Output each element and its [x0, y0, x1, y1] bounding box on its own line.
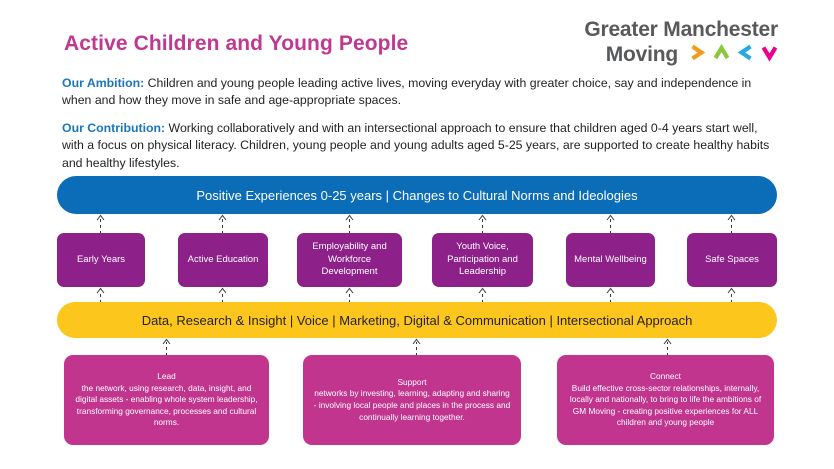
pillar-label: Youth Voice, Participation and Leadershi…	[438, 241, 527, 279]
logo-line-1: Greater Manchester	[584, 19, 778, 40]
arrow-action-2-to-enabler	[663, 338, 672, 356]
outcome-banner-label: Positive Experiences 0-25 years | Change…	[196, 188, 637, 203]
contribution-text: Working collaboratively and with an inte…	[62, 121, 769, 170]
arrow-enabler-to-pillar-0	[96, 287, 105, 303]
arrow-pillar-3-to-outcome	[478, 214, 487, 234]
enabler-banner: Data, Research & Insight | Voice | Marke…	[57, 302, 777, 338]
action-support[interactable]: Support networks by investing, learning,…	[303, 355, 521, 445]
pillar-safe-spaces[interactable]: Safe Spaces	[687, 233, 777, 287]
contribution-label: Our Contribution:	[62, 121, 165, 135]
chevron-down-icon	[761, 43, 778, 66]
pillar-label: Mental Wellbeing	[574, 254, 647, 267]
ambition-statement: Our Ambition: Children and young people …	[62, 75, 778, 110]
arrow-enabler-to-pillar-1	[218, 287, 227, 303]
greater-manchester-moving-logo: Greater Manchester Moving	[584, 19, 778, 66]
logo-chevron-group	[689, 43, 778, 66]
action-connect[interactable]: Connect Build effective cross-sector rel…	[557, 355, 774, 445]
pillar-active-education[interactable]: Active Education	[178, 233, 268, 287]
arrow-pillar-2-to-outcome	[345, 214, 354, 234]
chevron-right-icon	[689, 43, 706, 66]
arrow-action-1-to-enabler	[412, 338, 421, 356]
arrow-enabler-to-pillar-4	[606, 287, 615, 303]
pillar-youth-voice-participation-leadership[interactable]: Youth Voice, Participation and Leadershi…	[432, 233, 533, 287]
page-title: Active Children and Young People	[64, 32, 408, 56]
contribution-statement: Our Contribution: Working collaborativel…	[62, 120, 778, 172]
chevron-left-icon	[737, 43, 754, 66]
action-body: the network, using research, data, insig…	[74, 383, 259, 429]
arrow-pillar-1-to-outcome	[218, 214, 227, 234]
pillar-early-years[interactable]: Early Years	[57, 233, 145, 287]
arrow-enabler-to-pillar-3	[478, 287, 487, 303]
arrow-enabler-to-pillar-2	[345, 287, 354, 303]
pillar-label: Employability and Workforce Development	[303, 241, 396, 279]
arrow-enabler-to-pillar-5	[727, 287, 736, 303]
ambition-text: Children and young people leading active…	[62, 76, 751, 107]
arrow-action-0-to-enabler	[162, 338, 171, 356]
logo-line-2: Moving	[606, 44, 678, 65]
arrow-pillar-0-to-outcome	[96, 214, 105, 234]
enabler-banner-label: Data, Research & Insight | Voice | Marke…	[142, 313, 693, 328]
pillar-employability-workforce-development[interactable]: Employability and Workforce Development	[297, 233, 402, 287]
action-lead[interactable]: Lead the network, using research, data, …	[64, 355, 269, 445]
ambition-label: Our Ambition:	[62, 76, 144, 90]
action-title: Support	[397, 377, 426, 389]
pillar-label: Early Years	[77, 254, 125, 267]
pillar-mental-wellbeing[interactable]: Mental Wellbeing	[566, 233, 655, 287]
action-body: Build effective cross-sector relationshi…	[567, 383, 764, 429]
action-title: Lead	[157, 371, 175, 383]
arrow-pillar-5-to-outcome	[727, 214, 736, 234]
chevron-up-icon	[713, 43, 730, 66]
arrow-pillar-4-to-outcome	[606, 214, 615, 234]
action-title: Connect	[650, 371, 681, 383]
outcome-banner: Positive Experiences 0-25 years | Change…	[57, 176, 777, 214]
pillar-label: Safe Spaces	[705, 254, 759, 267]
pillar-label: Active Education	[188, 254, 259, 267]
action-body: networks by investing, learning, adaptin…	[313, 388, 511, 423]
